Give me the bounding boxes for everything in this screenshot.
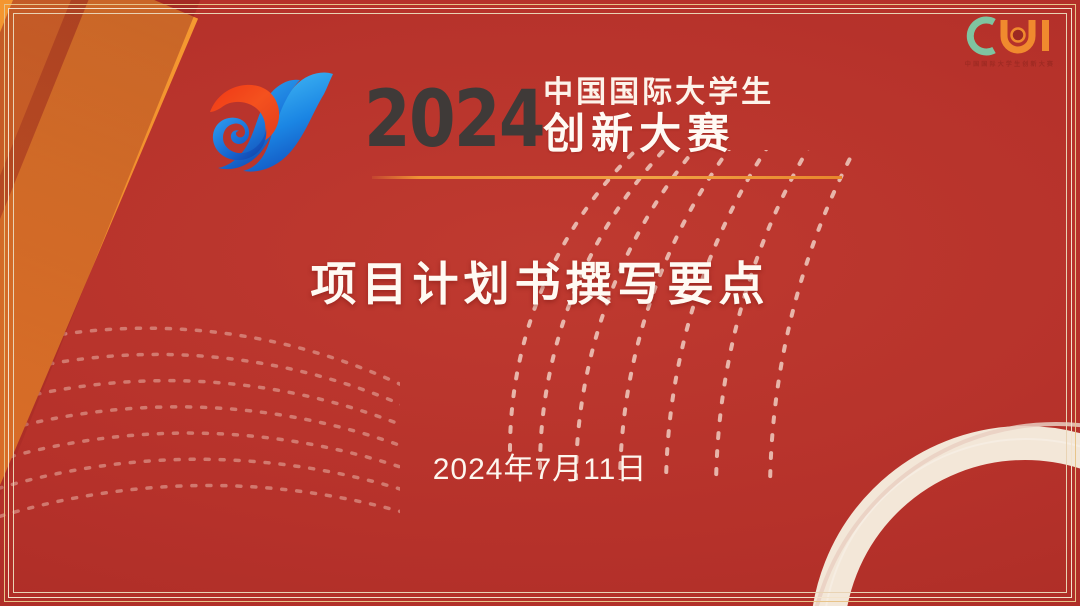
organization-logo: 中国国际大学生创新大赛 [958,14,1062,78]
event-name-line-1: 中国国际大学生 [543,77,774,109]
event-name-cn: 中国国际大学生 创新大赛 [543,77,774,158]
swirl-feather-emblem-icon [196,58,346,176]
page-title: 项目计划书撰写要点 [0,248,1080,314]
presentation-slide: 2024 中国国际大学生 创新大赛 项目计划书撰写要点 2024年7月11日 中… [0,0,1080,606]
event-name-line-2: 创新大赛 [543,111,774,157]
event-logo-lockup: 2024 中国国际大学生 创新大赛 [196,52,856,182]
cui-logo-icon [964,14,1056,58]
slide-date: 2024年7月11日 [0,444,1080,488]
event-year: 2024 [364,81,544,159]
gold-divider-rule [372,176,842,179]
org-logo-subtitle: 中国国际大学生创新大赛 [965,59,1055,68]
